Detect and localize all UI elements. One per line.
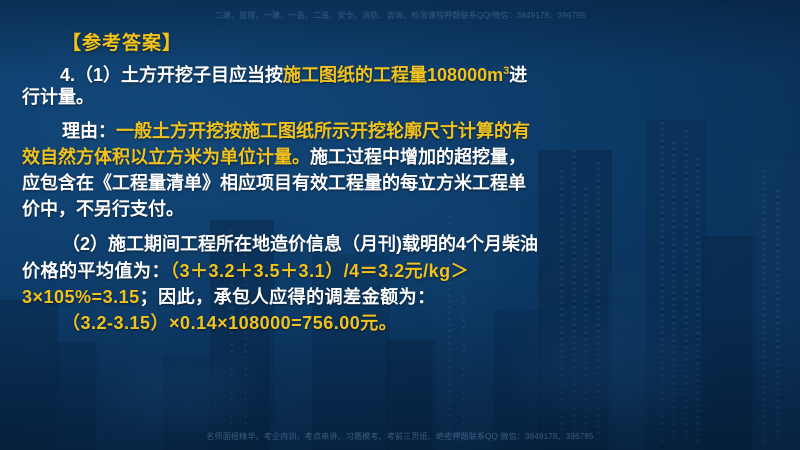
answer-reason-line3: 应包含在《工程量清单》相应项目有效工程量的每立方米工程单 — [22, 170, 526, 196]
q2-line2-formula: （3＋3.2＋3.5＋3.1）/4＝3.2元/kg＞ — [170, 261, 469, 281]
answer-reason-line2: 效自然方体积以立方米为单位计量。施工过程中增加的超挖量， — [22, 144, 526, 170]
answer-q2-line1: （2）施工期间工程所在地造价信息（月刊)载明的4个月柴油 — [62, 231, 538, 257]
q2-line3-formula: 3×105%=3.15 — [22, 287, 140, 307]
presentation-slide: 二建、监理、一建、一造、二造、安全、消防、咨询、检测课程押题联系QQ/微信：38… — [0, 0, 800, 450]
page-title: 【参考答案】 — [62, 28, 182, 55]
top-promo-banner: 二建、监理、一建、一造、二造、安全、消防、咨询、检测课程押题联系QQ/微信：38… — [0, 10, 800, 21]
answer-q1-line1: 4.（1）土方开挖子目应当按施工图纸的工程量108000m3进 — [60, 58, 527, 88]
q1-line1-text-b: 进 — [509, 65, 527, 85]
answer-q1-line2: 行计量。 — [22, 84, 94, 110]
answer-q2-line3: 3×105%=3.15；因此，承包人应得的调差金额为： — [22, 284, 436, 310]
answer-q2-line2: 价格的平均值为：（3＋3.2＋3.5＋3.1）/4＝3.2元/kg＞ — [22, 258, 469, 284]
bottom-promo-banner: 名师面授精华、考企内训、考点串讲、习题模考、考前三页纸、绝密押题联系QQ 微信：… — [0, 431, 800, 442]
answer-reason-line1: 理由：一般土方开挖按施工图纸所示开挖轮廓尺寸计算的有 — [62, 118, 530, 144]
answer-reason-line4: 价中，不另行支付。 — [22, 196, 184, 222]
reason-line2-text: 施工过程中增加的超挖量， — [310, 147, 526, 167]
q2-line2-text: 价格的平均值为： — [22, 261, 170, 281]
q1-line1-highlight: 施工图纸的工程量108000m — [283, 65, 503, 85]
q1-line1-text-a: 4.（1）土方开挖子目应当按 — [60, 65, 283, 85]
q2-line3-text: ；因此，承包人应得的调差金额为： — [140, 287, 436, 307]
reason-line2-highlight: 效自然方体积以立方米为单位计量。 — [22, 147, 310, 167]
reason-line1-highlight: 一般土方开挖按施工图纸所示开挖轮廓尺寸计算的有 — [116, 121, 530, 141]
reason-label: 理由： — [62, 121, 116, 141]
answer-q2-final-result: （3.2-3.15）×0.14×108000=756.00元。 — [62, 310, 397, 336]
